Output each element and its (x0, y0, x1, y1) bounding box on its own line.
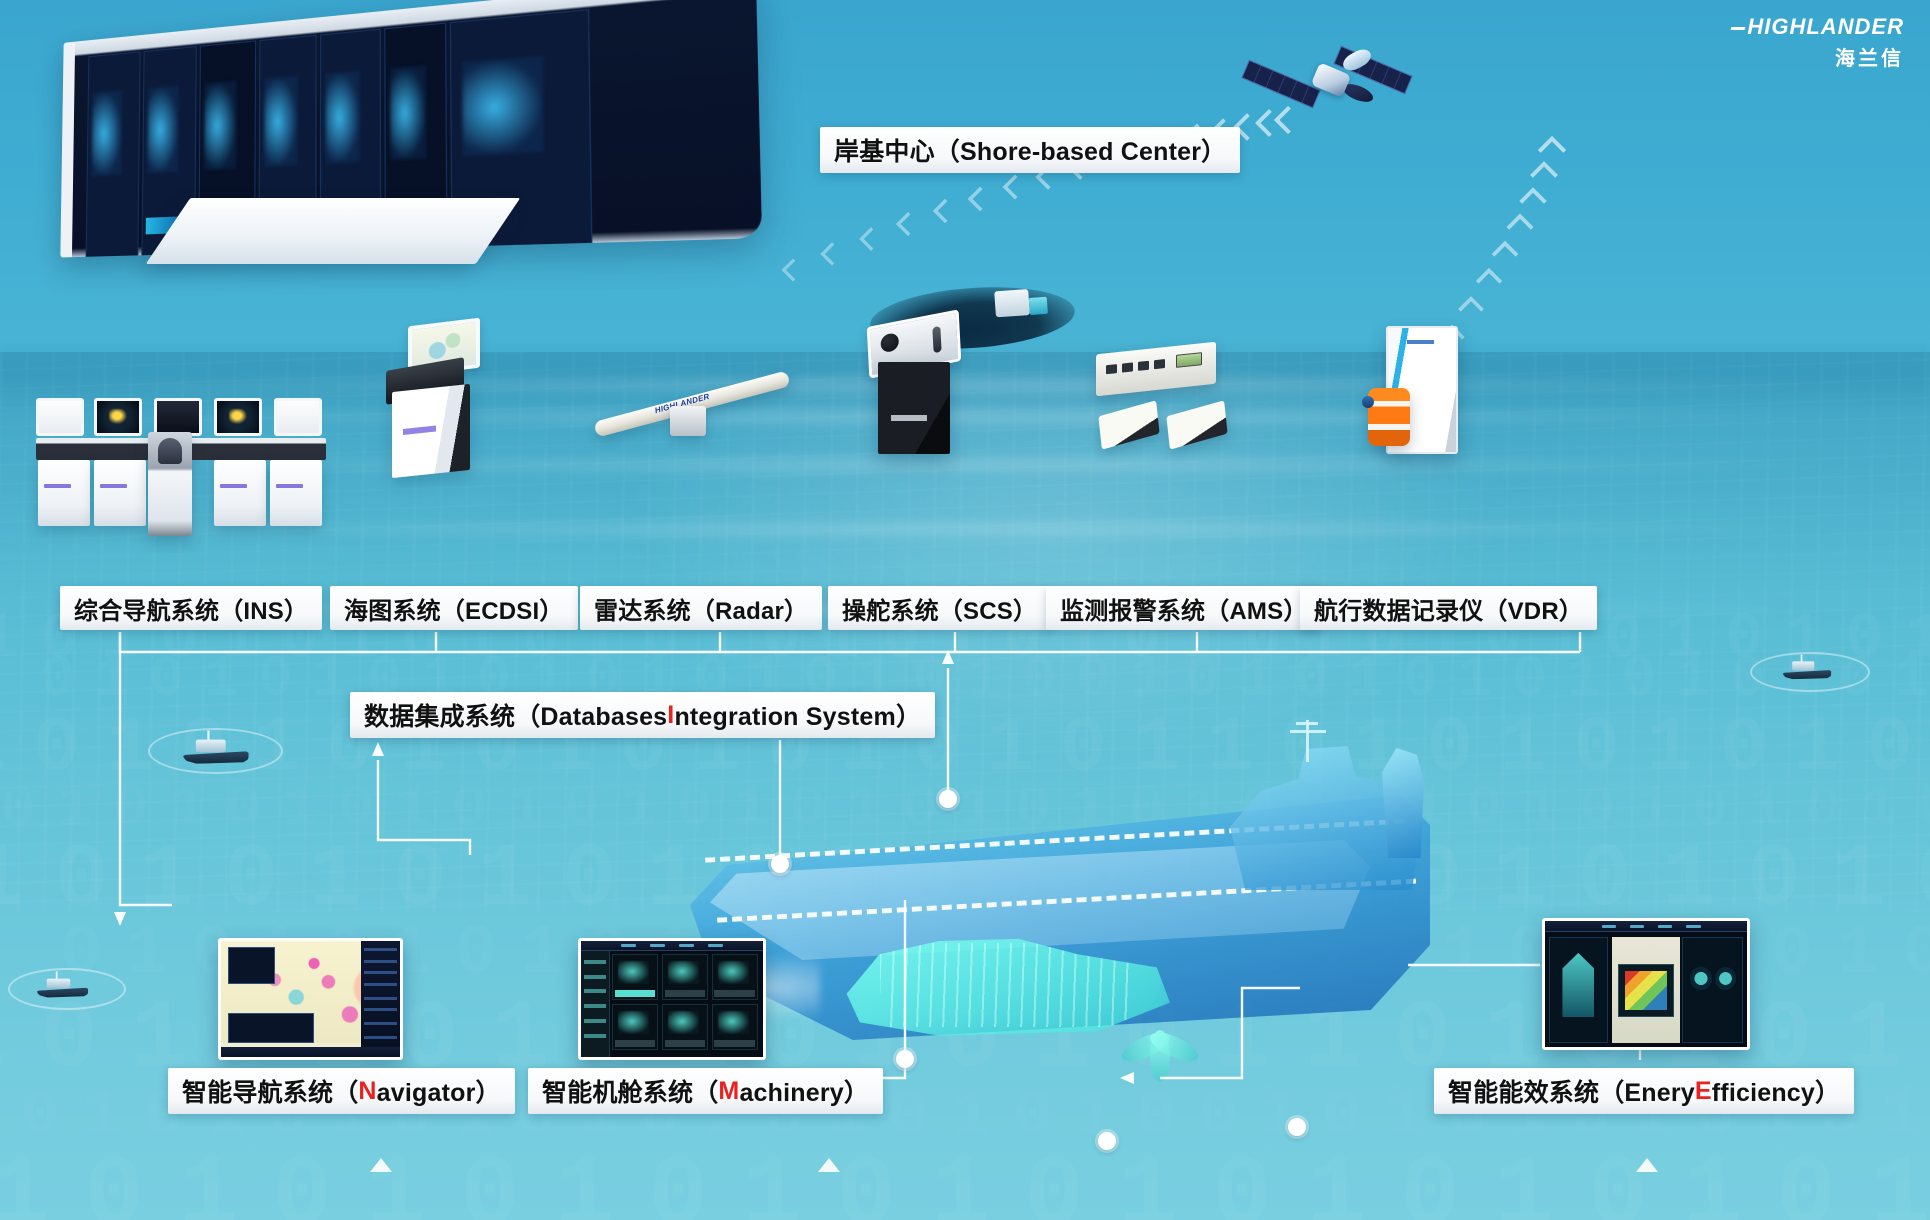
navigator-info-box (228, 947, 275, 984)
efficiency-ship-icon (1562, 953, 1594, 1017)
ship-hologram (690, 720, 1470, 1120)
infographic-canvas: 1010101010101010101010101010101010100101… (0, 0, 1930, 1220)
ins-center-pedestal (148, 432, 192, 536)
ams-label: 监测报警系统（AMS） (1046, 586, 1322, 630)
integration-label-prefix: 数据集成系统（Databases (364, 697, 667, 733)
machinery-top-bar (581, 941, 763, 951)
machinery-tile (712, 1004, 758, 1050)
machinery-tile (712, 954, 758, 1000)
machinery-tile (662, 954, 708, 1000)
radar-label: 雷达系统（Radar） (580, 586, 822, 630)
ins-cabinet (38, 460, 90, 526)
navigator-screenshot (218, 938, 403, 1060)
ams-io-card (1166, 400, 1227, 449)
radar-pedestal (670, 406, 706, 436)
ship-node-deck (771, 855, 789, 873)
navigator-data-table (228, 1013, 314, 1043)
ship-node-stern (1288, 1118, 1306, 1136)
efficiency-ship-panel (1549, 937, 1608, 1043)
machinery-tile (662, 1004, 708, 1050)
scs-label: 操舵系统（SCS） (828, 586, 1051, 630)
navigator-side-panel (361, 941, 400, 1057)
efficiency-screenshot (1542, 918, 1750, 1050)
ship-propeller (1120, 1020, 1200, 1092)
ams-io-card (1098, 400, 1159, 449)
machinery-label: 智能机舱系统（Machinery） (528, 1068, 883, 1114)
ams-port (1106, 364, 1117, 374)
satellite-solar-panel-left (1241, 60, 1321, 109)
ins-monitor (94, 398, 142, 436)
bottom-marker (818, 1158, 840, 1172)
logo-tick-icon (1731, 27, 1746, 30)
vdr-label: 航行数据记录仪（VDR） (1300, 586, 1597, 630)
ship-node-propeller (1098, 1132, 1116, 1150)
integration-label: 数据集成系统（Databases Integration System） (350, 692, 935, 738)
efficiency-gauge (1715, 967, 1736, 990)
navigator-status-bar (221, 1047, 400, 1057)
water-ripple (148, 728, 283, 774)
scs-lever (932, 326, 941, 353)
videowall-base-platform (146, 198, 521, 264)
machinery-nav-rail (581, 951, 610, 1057)
ecdis-workstation-image (382, 322, 492, 522)
bottom-marker (1636, 1158, 1658, 1172)
navigator-label: 智能导航系统（Navigator） (168, 1068, 515, 1114)
ams-modules-image (1096, 348, 1276, 458)
scs-console-image (862, 318, 967, 458)
island-building (994, 289, 1030, 317)
integration-label-suffix: ntegration System） (674, 697, 921, 733)
integration-label-highlight: I (667, 701, 674, 730)
ins-console-image (36, 398, 326, 538)
videowall-screen-cell (86, 51, 141, 257)
machinery-tile-grid (612, 954, 758, 1050)
brand-logo: HIGHLANDER 海兰信 (1731, 14, 1904, 71)
ship-node-bridge (939, 790, 957, 808)
ecdis-label: 海图系统（ECDSI） (330, 586, 578, 630)
ams-lcd (1176, 352, 1202, 368)
ams-port (1154, 359, 1165, 369)
radar-antenna-image: HIGHLANDER (592, 370, 822, 460)
scs-knob (880, 332, 899, 353)
ins-monitor (214, 398, 262, 436)
efficiency-heatmap-chart (1618, 964, 1675, 1017)
ins-cabinet (214, 460, 266, 526)
ams-main-unit (1096, 342, 1216, 397)
island-building-secondary (1029, 297, 1048, 315)
machinery-tile (612, 1004, 658, 1050)
ins-monitor (274, 398, 322, 436)
efficiency-label: 智能能效系统（Enery Efficiency） (1434, 1068, 1854, 1114)
ship-node-engine (896, 1050, 914, 1068)
vdr-cabinet-image (1368, 326, 1464, 456)
water-ripple (8, 968, 126, 1010)
shore-center-label: 岸基中心（Shore-based Center） (820, 127, 1240, 173)
ship-mast (1286, 720, 1330, 762)
water-ripple (1750, 652, 1870, 692)
brand-logo-cn: 海兰信 (1731, 42, 1904, 71)
ams-port (1122, 362, 1133, 372)
brand-logo-en: HIGHLANDER (1731, 14, 1904, 40)
efficiency-top-bar (1545, 921, 1747, 932)
efficiency-gauges-panel (1682, 937, 1743, 1043)
ecdis-cabinet (392, 384, 470, 478)
scs-pillar (878, 362, 950, 454)
vdr-capsule (1368, 388, 1410, 446)
ins-label: 综合导航系统（INS） (60, 586, 322, 630)
bottom-marker (370, 1158, 392, 1172)
ins-monitor (154, 398, 202, 436)
ins-cabinet (270, 460, 322, 526)
machinery-screenshot (578, 938, 766, 1060)
ins-monitor (36, 398, 84, 436)
ins-cabinet (94, 460, 146, 526)
brand-logo-en-text: HIGHLANDER (1747, 14, 1904, 39)
machinery-tile (612, 954, 658, 1000)
ams-port (1138, 361, 1149, 371)
efficiency-gauge (1690, 967, 1711, 990)
